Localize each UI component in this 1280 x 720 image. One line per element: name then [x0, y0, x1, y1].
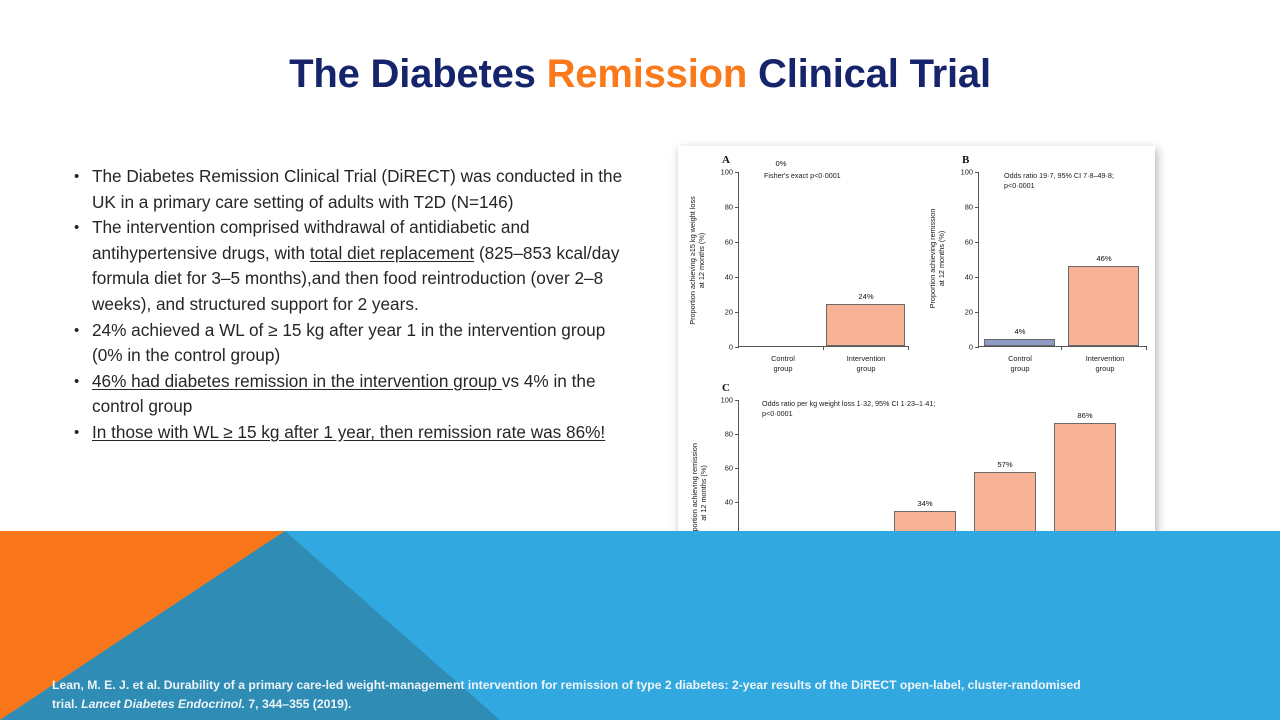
- bullet-marker-icon: •: [66, 420, 92, 446]
- citation-line-1: Lean, M. E. J. et al. Durability of a pr…: [52, 678, 1081, 692]
- panel-a-plot-area: 100 80 60 40 20 0 0% 24% Control group: [738, 172, 908, 347]
- panel-a-ytick-60: 60: [725, 238, 733, 247]
- panel-b-ytick-100: 100: [961, 168, 973, 177]
- panel-b-letter: B: [962, 154, 969, 166]
- title-part-1: The Diabetes: [289, 52, 546, 96]
- list-item: • In those with WL ≥ 15 kg after 1 year,…: [66, 420, 626, 446]
- bullet-marker-icon: •: [66, 369, 92, 395]
- bullet-marker-icon: •: [66, 164, 92, 190]
- panel-a-xtick-intervention: Intervention group: [828, 354, 904, 373]
- panel-a-ytick-20: 20: [725, 308, 733, 317]
- bullet-text: The intervention comprised withdrawal of…: [92, 215, 626, 317]
- panel-a-ytick-40: 40: [725, 273, 733, 282]
- list-item: • 24% achieved a WL of ≥ 15 kg after yea…: [66, 318, 626, 369]
- panel-c-letter: C: [722, 382, 730, 394]
- emphasis-total-diet-replacement: total diet replacement: [310, 243, 474, 263]
- bullet-marker-icon: •: [66, 318, 92, 344]
- bullet-text: In those with WL ≥ 15 kg after 1 year, t…: [92, 420, 626, 446]
- panel-b-ytick-20: 20: [965, 308, 973, 317]
- list-item: • The intervention comprised withdrawal …: [66, 215, 626, 317]
- title-highlight: Remission: [547, 52, 748, 96]
- panel-b-ylabel: Proportion achieving remission at 12 mon…: [928, 176, 947, 341]
- panel-c-value-4: 86%: [1077, 411, 1092, 420]
- bullet-list: • The Diabetes Remission Clinical Trial …: [66, 164, 626, 446]
- panel-b-bar-intervention: [1068, 266, 1139, 346]
- citation-line-2-pre: trial.: [52, 697, 81, 711]
- panel-a-ytick-0: 0: [729, 343, 733, 352]
- panel-c-ytick-40: 40: [725, 498, 733, 507]
- panel-a-letter: A: [722, 154, 730, 166]
- panel-b-ytick-60: 60: [965, 238, 973, 247]
- title-part-2: Clinical Trial: [747, 52, 991, 96]
- list-item: • The Diabetes Remission Clinical Trial …: [66, 164, 626, 215]
- panel-b-plot-area: 100 80 60 40 20 0 4% 46% Control: [978, 172, 1146, 347]
- emphasis-remission-intervention: 46% had diabetes remission in the interv…: [92, 371, 502, 391]
- panel-a-ytick-100: 100: [721, 168, 733, 177]
- panel-b-ytick-40: 40: [965, 273, 973, 282]
- panel-b-ytick-0: 0: [969, 343, 973, 352]
- chart-panel-a: A Fisher's exact p<0·0001 Proportion ach…: [678, 146, 916, 378]
- panel-b-ytick-80: 80: [965, 203, 973, 212]
- citation-line-2-post: 7, 344–355 (2019).: [245, 697, 351, 711]
- page-title: The Diabetes Remission Clinical Trial: [0, 52, 1280, 96]
- slide-canvas: The Diabetes Remission Clinical Trial • …: [0, 0, 1280, 720]
- panel-a-value-0: 0%: [776, 159, 787, 168]
- chart-panel-b: B Odds ratio 19·7, 95% CI 7·8–49·8; p<0·…: [916, 146, 1155, 378]
- panel-c-ytick-80: 80: [725, 430, 733, 439]
- panel-b-value-1: 46%: [1096, 254, 1111, 263]
- panel-b-xtick-intervention: Intervention group: [1068, 354, 1142, 373]
- panel-b-value-0: 4%: [1015, 327, 1026, 336]
- bullet-text: The Diabetes Remission Clinical Trial (D…: [92, 164, 626, 215]
- panel-a-xtick-control: Control group: [745, 354, 821, 373]
- bullet-text: 24% achieved a WL of ≥ 15 kg after year …: [92, 318, 626, 369]
- panel-a-ylabel: Proportion achieving ≥15 kg weight loss …: [688, 173, 707, 348]
- panel-c-value-2: 34%: [917, 499, 932, 508]
- panel-b-xtick-control: Control group: [983, 354, 1057, 373]
- panel-a-value-1: 24%: [858, 292, 873, 301]
- panel-c-ytick-60: 60: [725, 464, 733, 473]
- citation-journal: Lancet Diabetes Endocrinol.: [81, 697, 245, 711]
- panel-b-bar-control: [984, 339, 1055, 346]
- bullet-marker-icon: •: [66, 215, 92, 241]
- citation-text: Lean, M. E. J. et al. Durability of a pr…: [52, 676, 1242, 714]
- list-item: • 46% had diabetes remission in the inte…: [66, 369, 626, 420]
- panel-a-ytick-80: 80: [725, 203, 733, 212]
- panel-c-value-3: 57%: [997, 460, 1012, 469]
- panel-a-bar-intervention: [826, 304, 905, 346]
- bullet-text: 46% had diabetes remission in the interv…: [92, 369, 626, 420]
- panel-c-ytick-100: 100: [721, 396, 733, 405]
- emphasis-remission-rate-86: In those with WL ≥ 15 kg after 1 year, t…: [92, 422, 605, 442]
